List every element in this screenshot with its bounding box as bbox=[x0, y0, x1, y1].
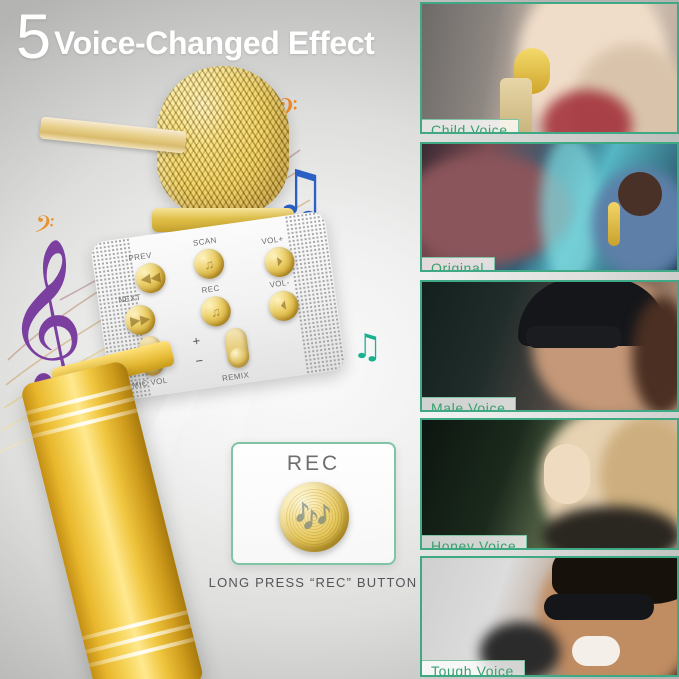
photo-child-voice[interactable]: Child Voice bbox=[420, 2, 679, 134]
photo-honey-voice[interactable]: Honey Voice bbox=[420, 418, 679, 550]
scan-icon: ♫ bbox=[192, 247, 226, 281]
microphone-handle bbox=[20, 360, 205, 679]
photo-male-voice[interactable]: Male Voice bbox=[420, 280, 679, 412]
button-scan[interactable]: ♫ bbox=[192, 247, 226, 281]
photo-original[interactable]: Original bbox=[420, 142, 679, 272]
volume-up-icon: ⏵ bbox=[263, 245, 297, 279]
rec-callout-button[interactable]: 🎶 bbox=[279, 482, 349, 552]
skip-forward-icon: ▶▶ bbox=[123, 303, 157, 337]
skip-back-icon: ◀◀ bbox=[134, 261, 168, 295]
photo-image bbox=[422, 144, 677, 270]
volume-down-icon: ⏴ bbox=[267, 289, 301, 323]
title-text: Voice-Changed Effect bbox=[54, 25, 374, 62]
button-rec[interactable]: ♫ bbox=[199, 294, 233, 328]
button-vol-up[interactable]: ⏵ bbox=[263, 245, 297, 279]
effect-count: 5 bbox=[16, 6, 50, 69]
photo-image bbox=[422, 282, 677, 410]
rec-callout: REC 🎶 LONG PRESS “REC” BUTTON bbox=[231, 442, 428, 590]
remix-slider-icon bbox=[229, 347, 247, 365]
photo-label: Honey Voice bbox=[420, 535, 527, 550]
rec-callout-box: REC 🎶 bbox=[231, 442, 396, 565]
beamed-notes-3-icon: ♫ bbox=[352, 330, 382, 364]
rec-callout-title: REC bbox=[287, 452, 340, 476]
button-next[interactable]: ▶▶ bbox=[123, 303, 157, 337]
photo-tough-voice[interactable]: Tough Voice bbox=[420, 556, 679, 677]
handle-ring bbox=[83, 635, 204, 669]
photo-label: Original bbox=[420, 257, 495, 272]
voice-effect-gallery: Child Voice Original Male Voice bbox=[420, 0, 679, 679]
photo-image bbox=[422, 420, 677, 548]
button-vol-down[interactable]: ⏴ bbox=[267, 289, 301, 323]
photo-image bbox=[422, 558, 677, 675]
photo-label: Child Voice bbox=[420, 119, 519, 134]
infographic-canvas: 5 Voice-Changed Effect 𝄞 𝄢 𝄢 ♫ ♪ ♯ ♫ ♫ bbox=[0, 0, 679, 679]
photo-image bbox=[422, 4, 677, 132]
rec-callout-caption: LONG PRESS “REC” BUTTON bbox=[198, 575, 428, 590]
gramophone-icon: 🎶 bbox=[279, 482, 349, 552]
photo-label: Male Voice bbox=[420, 397, 516, 412]
page-title: 5 Voice-Changed Effect bbox=[16, 6, 374, 69]
photo-label: Tough Voice bbox=[420, 660, 525, 677]
button-prev[interactable]: ◀◀ bbox=[134, 261, 168, 295]
record-icon: ♫ bbox=[199, 294, 233, 328]
